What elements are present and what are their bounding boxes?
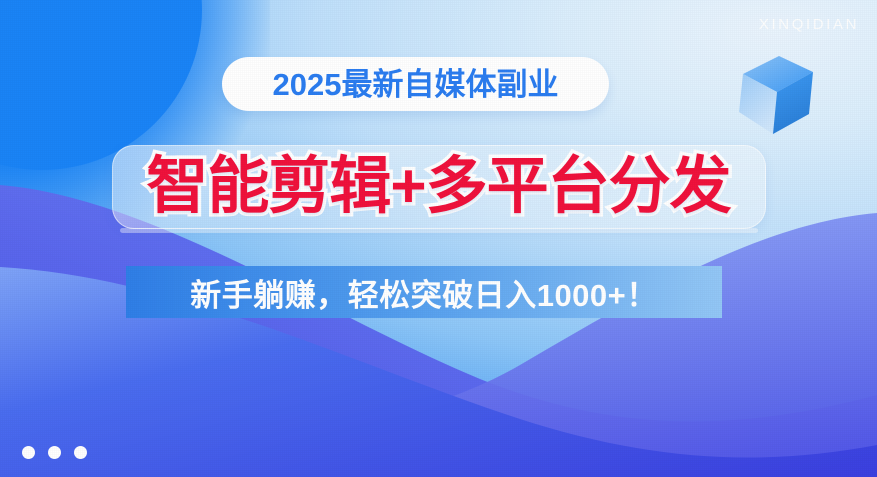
dot-1-icon (22, 446, 35, 459)
badge-label: 2025最新自媒体副业 (273, 69, 559, 100)
poster-canvas: XINQIDIAN 2025最新自媒体副业 (0, 0, 877, 477)
poster-content: 2025最新自媒体副业 智能剪辑+多平台分发 新手躺赚，轻松突破日入1000+！ (0, 0, 877, 477)
headline-glass-underline (120, 228, 758, 233)
headline-badge: 2025最新自媒体副业 (222, 57, 609, 111)
dot-2-icon (48, 446, 61, 459)
dots-indicator (22, 446, 87, 459)
dot-3-icon (74, 446, 87, 459)
subtitle-text: 新手躺赚，轻松突破日入1000+！ (126, 266, 722, 318)
headline-text: 智能剪辑+多平台分发 (0, 150, 877, 224)
